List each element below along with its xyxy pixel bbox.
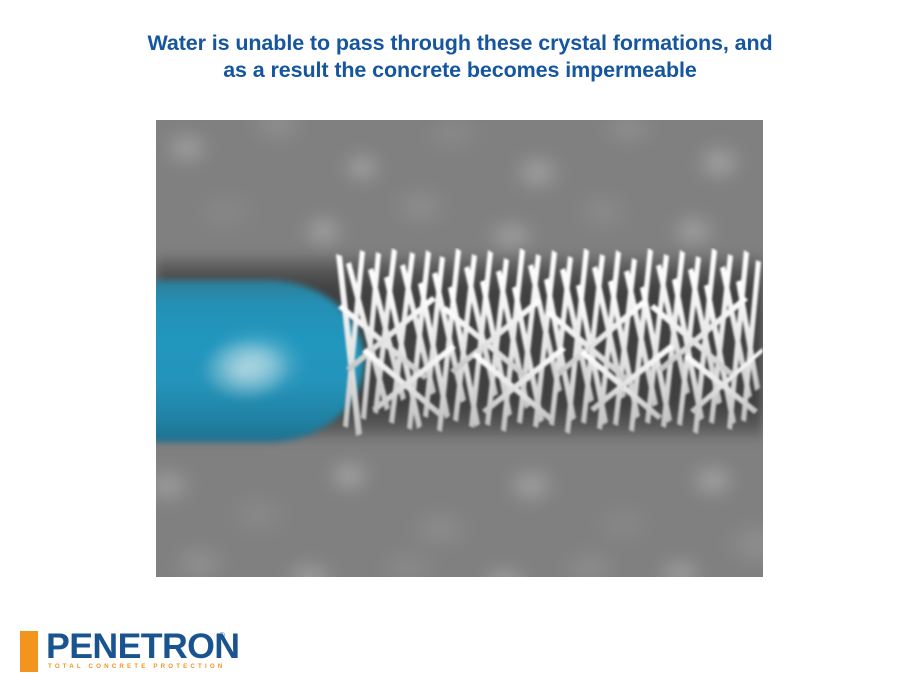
crystal-needle-field [332,248,763,446]
micrograph-image [156,120,763,577]
slide-title-line-1: Water is unable to pass through these cr… [110,30,810,57]
presentation-slide: Water is unable to pass through these cr… [0,0,920,690]
water-droplet-highlight [208,332,304,394]
slide-title: Water is unable to pass through these cr… [110,30,810,84]
logo-wordmark: PENETRON [46,627,239,667]
logo-tagline: TOTAL CONCRETE PROTECTION [48,663,225,670]
registered-trademark-icon: ® [219,631,225,640]
slide-title-line-2: as a result the concrete becomes imperme… [110,57,810,84]
logo-orange-bar [20,631,38,672]
penetron-logo: PENETRON ® TOTAL CONCRETE PROTECTION [20,631,230,675]
